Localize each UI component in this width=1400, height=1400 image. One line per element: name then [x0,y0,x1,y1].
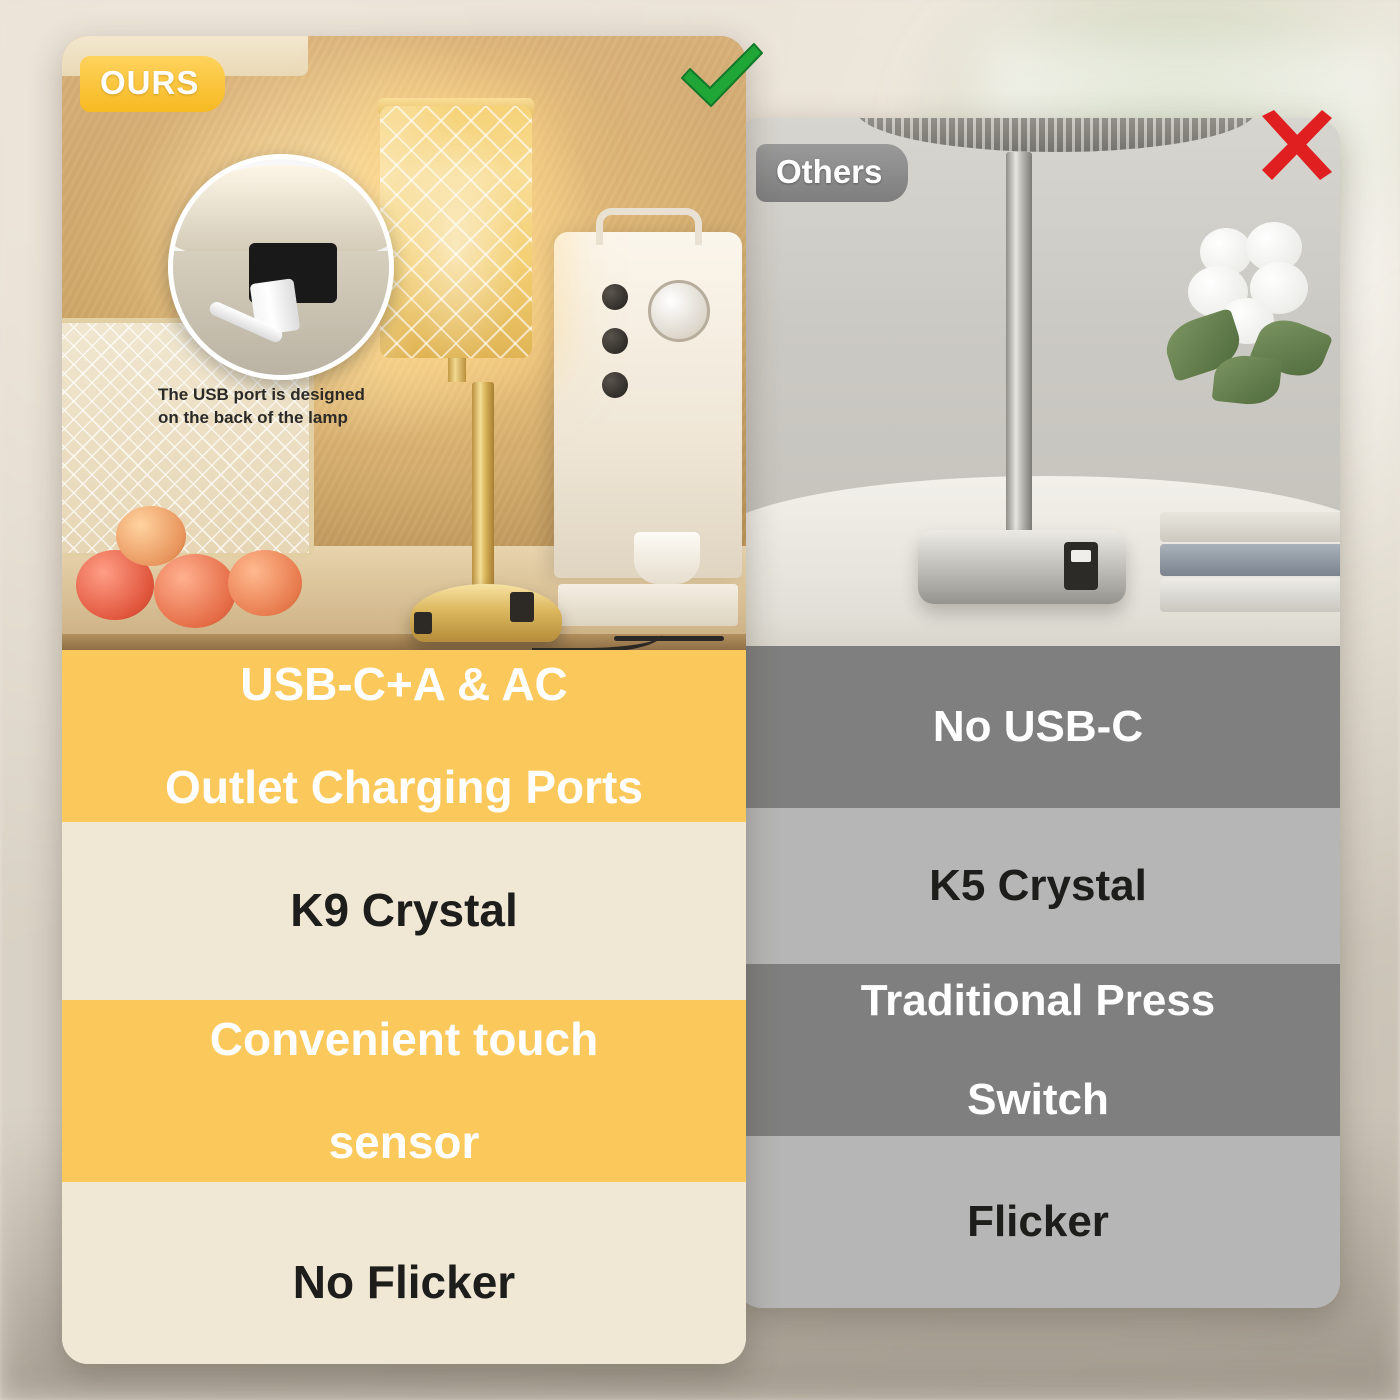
ours-feature-0-line2: Outlet Charging Ports [84,762,724,814]
ours-photo-lamp-neck [448,358,466,382]
comparison-infographic: Others No USB-C K5 Crystal Traditional P… [0,0,1400,1400]
others-feature-list: No USB-C K5 Crystal Traditional Press Sw… [736,646,1340,1308]
ours-feature-3-label: No Flicker [84,1257,724,1309]
ours-photo-machine-knob-2 [602,328,628,354]
others-feature-row-3: Flicker [736,1136,1340,1308]
others-feature-1-label: K5 Crystal [758,861,1318,910]
others-feature-0-label: No USB-C [758,702,1318,751]
ours-product-photo: The USB port is designed on the back of … [62,36,746,650]
others-panel: Others No USB-C K5 Crystal Traditional P… [736,118,1340,1308]
red-x-icon [1254,108,1340,186]
ours-photo-machine-knob-1 [602,284,628,310]
usb-port-closeup-inset [168,154,394,380]
ours-photo-fruit-4 [116,506,186,566]
ours-photo-lamp-ac-port [414,612,432,634]
ours-photo-machine-dial [648,280,710,342]
others-feature-2-line2: Switch [758,1075,1318,1124]
ours-feature-2-line2: sensor [84,1117,724,1169]
others-badge: Others [756,144,908,202]
ours-photo-lamp-cord-tail [614,636,724,641]
ours-photo-lamp-usb-port [510,592,534,622]
others-feature-row-1: K5 Crystal [736,808,1340,964]
others-product-photo: Others [736,118,1340,646]
ours-photo-machine-cup [634,532,700,584]
others-photo-books [1160,478,1340,628]
others-feature-row-2: Traditional Press Switch [736,964,1340,1136]
others-feature-3-label: Flicker [758,1197,1318,1246]
ours-photo-machine-handle [596,208,702,245]
ours-feature-row-2: Convenient touch sensor [62,1000,746,1182]
ours-photo-coffee-machine [554,232,742,578]
ours-photo-machine-knob-3 [602,372,628,398]
ours-photo-lamp-shade [380,106,532,358]
ours-feature-row-0: USB-C+A & AC Outlet Charging Ports [62,650,746,822]
ours-feature-1-label: K9 Crystal [84,885,724,937]
ours-feature-row-3: No Flicker [62,1182,746,1364]
others-lamp-pole [1006,152,1032,548]
ours-badge: OURS [80,56,225,112]
ours-feature-0-line1: USB-C+A & AC [84,659,724,711]
green-check-icon [676,38,768,114]
ours-photo-machine-tray [558,584,738,626]
ours-feature-row-1: K9 Crystal [62,822,746,1000]
others-feature-2-line1: Traditional Press [758,976,1318,1025]
others-lamp-usb-port [1064,542,1098,590]
others-feature-row-0: No USB-C [736,646,1340,808]
ours-panel: The USB port is designed on the back of … [62,36,746,1364]
usb-caption-text: The USB port is designed on the back of … [158,384,388,430]
ours-photo-fruit-3 [228,550,302,616]
ours-feature-2-line1: Convenient touch [84,1014,724,1066]
others-photo-flowers [1158,222,1334,412]
ours-photo-lamp-pole [472,382,494,598]
ours-feature-list: USB-C+A & AC Outlet Charging Ports K9 Cr… [62,650,746,1364]
ours-photo-fruit-2 [154,554,236,628]
